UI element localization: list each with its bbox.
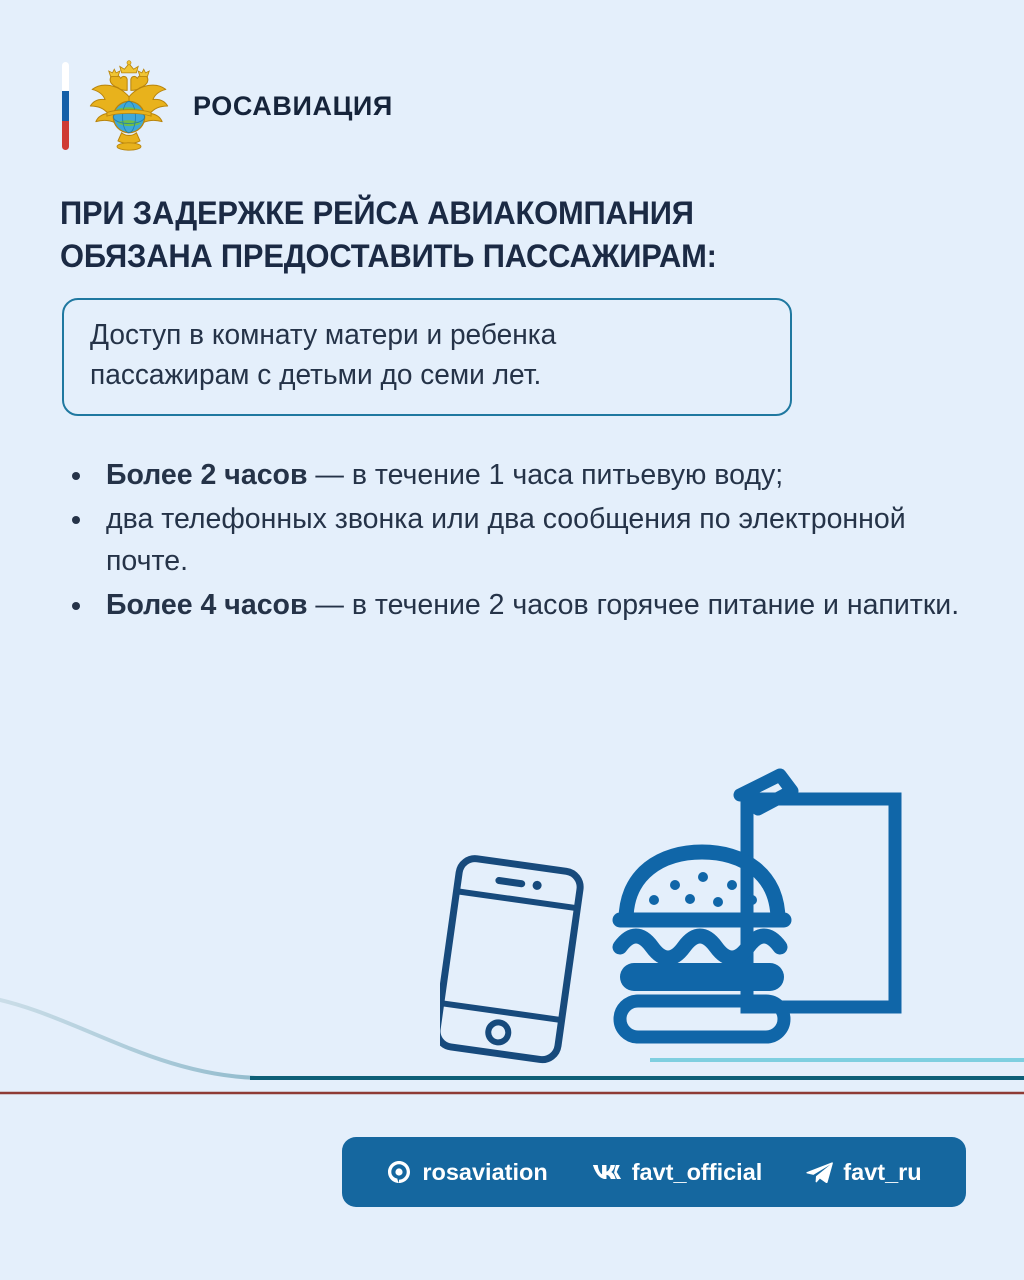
vk-icon (592, 1161, 622, 1183)
social-link-vk[interactable]: favt_official (592, 1159, 763, 1186)
list-item-strong: Более 2 часов (106, 459, 307, 491)
headline-line-1: ПРИ ЗАДЕРЖКЕ РЕЙСА АВИАКОМПАНИЯ (60, 192, 896, 236)
list-item-text: — в течение 1 часа питьевую воду; (307, 459, 783, 491)
callout-line-2: пассажирам с детьми до семи лет. (90, 356, 758, 396)
telegram-icon (806, 1161, 833, 1183)
russian-double-headed-eagle-emblem-icon (83, 60, 175, 152)
infographic-poster: РОСАВИАЦИЯ ПРИ ЗАДЕРЖКЕ РЕЙСА АВИАКОМПАН… (0, 0, 1024, 1280)
social-bar: rosaviation favt_official favt_ru (342, 1137, 966, 1207)
list-item-text: два телефонных звонка или два сообщения … (106, 503, 906, 577)
social-handle: favt_official (632, 1159, 763, 1186)
decor-lines (0, 940, 1024, 1110)
page-title: ПРИ ЗАДЕРЖКЕ РЕЙСА АВИАКОМПАНИЯ ОБЯЗАНА … (60, 192, 896, 279)
callout-line-1: Доступ в комнату матери и ребенка (90, 316, 758, 356)
russian-tricolor-bar-icon (62, 62, 69, 150)
odnoklassniki-icon (386, 1159, 412, 1185)
social-handle: favt_ru (843, 1159, 921, 1186)
social-link-telegram[interactable]: favt_ru (806, 1159, 921, 1186)
callout-box: Доступ в комнату матери и ребенка пассаж… (62, 298, 792, 416)
social-handle: rosaviation (422, 1159, 547, 1186)
brand-name: РОСАВИАЦИЯ (193, 91, 393, 122)
list-item: Более 2 часов — в течение 1 часа питьеву… (64, 455, 964, 497)
headline-line-2: ОБЯЗАНА ПРЕДОСТАВИТЬ ПАССАЖИРАМ: (60, 235, 896, 279)
list-item-strong: Более 4 часов (106, 589, 307, 621)
obligations-list: Более 2 часов — в течение 1 часа питьеву… (64, 455, 964, 629)
list-item: два телефонных звонка или два сообщения … (64, 499, 964, 583)
brand-header: РОСАВИАЦИЯ (62, 58, 393, 154)
list-item: Более 4 часов — в течение 2 часов горяче… (64, 585, 964, 627)
social-link-odnoklassniki[interactable]: rosaviation (386, 1159, 547, 1186)
list-item-text: — в течение 2 часов горячее питание и на… (307, 589, 959, 621)
